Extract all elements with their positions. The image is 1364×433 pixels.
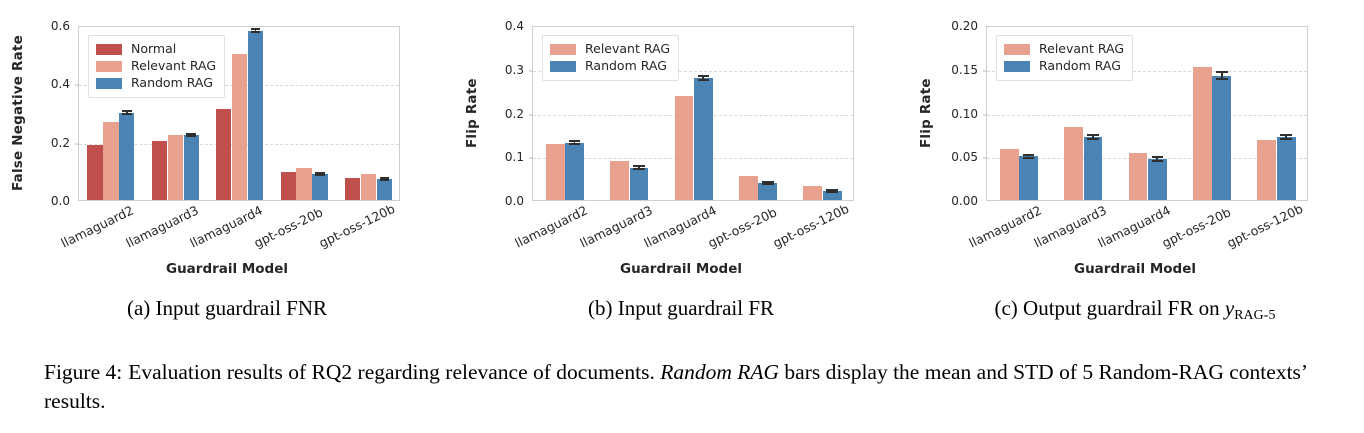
legend-label: Relevant RAG [131,60,216,73]
subcaption-subscript: RAG-5 [1234,307,1275,322]
error-bar-cap [380,177,390,179]
bar-llamaguard2-relevant-rag [103,122,118,200]
panel-c-legend[interactable]: Relevant RAGRandom RAG [996,35,1133,81]
error-bar-cap [380,179,390,181]
panel-a-y-tick-label: 0.6 [51,19,70,33]
bar-llamaguard3-relevant-rag [168,135,183,200]
bar-llamaguard4-relevant-rag [232,54,247,200]
error-bar-cap [698,75,710,77]
error-bar-cap [1280,134,1292,136]
error-bar-cap [1216,71,1228,73]
error-bar-cap [315,172,325,174]
error-bar-cap [1023,157,1035,159]
legend-item-relevant-rag[interactable]: Relevant RAG [550,41,670,58]
panel-a-subcaption: (a) Input guardrail FNR [0,296,454,321]
panel-c-x-ticks: llamaguard2llamaguard3llamaguard4gpt-oss… [908,205,1362,265]
legend-swatch-icon [550,44,576,55]
panel-b-y-tick-label: 0.4 [505,19,524,33]
panel-b-legend[interactable]: Relevant RAGRandom RAG [542,35,679,81]
error-bar-cap [633,168,645,170]
bar-llamaguard2-relevant-rag [1000,149,1019,200]
legend-swatch-icon [550,61,576,72]
bar-gpt-oss-20b-random-rag [758,183,777,200]
bar-llamaguard2-relevant-rag [546,144,565,200]
panel-c-y-tick-label: 0.05 [951,150,978,164]
panel-b-axes: Relevant RAGRandom RAG [532,26,854,201]
figure-caption-label: Figure 4: [44,360,122,384]
panel-c-y-tick-label: 0.10 [951,107,978,121]
legend-swatch-icon [96,61,122,72]
panel-c-x-axis-label: Guardrail Model [908,261,1362,277]
panel-a-x-ticks: llamaguard2llamaguard3llamaguard4gpt-oss… [0,205,454,265]
bar-llamaguard3-normal [152,141,167,201]
error-bar-cap [122,110,132,112]
figure-caption-text-1: Evaluation results of RQ2 regarding rele… [128,360,655,384]
bar-gpt-oss-120b-relevant-rag [803,186,822,200]
error-bar-cap [1087,134,1099,136]
x-tick-label-llamaguard2: llamaguard2 [513,209,577,251]
bar-gpt-oss-20b-random-rag [312,174,327,200]
panel-b-x-ticks: llamaguard2llamaguard3llamaguard4gpt-oss… [454,205,908,265]
figure-4: False Negative Rate0.00.20.40.6NormalRel… [0,0,1364,433]
legend-item-relevant-rag[interactable]: Relevant RAG [96,58,216,75]
legend-label: Random RAG [1039,60,1121,73]
panel-a-y-tick-label: 0.2 [51,136,70,150]
bar-llamaguard2-random-rag [119,113,134,201]
error-bar-cap [1280,138,1292,140]
error-bar-cap [762,183,774,185]
error-bar-cap [569,143,581,145]
panel-a-y-ticks: 0.00.20.40.6 [0,26,70,201]
bar-llamaguard4-random-rag [1148,159,1167,200]
bar-gpt-oss-20b-relevant-rag [739,176,758,200]
legend-swatch-icon [1004,44,1030,55]
bar-llamaguard3-random-rag [1084,137,1103,200]
error-bar-cap [826,189,838,191]
legend-label: Relevant RAG [585,43,670,56]
legend-label: Normal [131,43,176,56]
panel-c-y-ticks: 0.000.050.100.150.20 [908,26,978,201]
error-bar-cap [1023,154,1035,156]
legend-swatch-icon [96,78,122,89]
bar-gpt-oss-20b-normal [281,172,296,200]
panel-b-y-tick-label: 0.1 [505,150,524,164]
bar-llamaguard2-random-rag [565,143,584,200]
error-bar-cap [826,191,838,193]
panel-a: False Negative Rate0.00.20.40.6NormalRel… [0,8,454,338]
panel-b-y-tick-label: 0.2 [505,107,524,121]
legend-swatch-icon [1004,61,1030,72]
bar-llamaguard3-relevant-rag [1064,127,1083,200]
bar-llamaguard2-random-rag [1019,156,1038,200]
bar-llamaguard4-relevant-rag [1129,153,1148,200]
bar-gpt-oss-120b-relevant-rag [1257,140,1276,200]
error-bar-cap [1216,78,1228,80]
legend-item-random-rag[interactable]: Random RAG [1004,58,1124,75]
panel-a-y-tick-label: 0.4 [51,77,70,91]
panel-a-x-axis-label: Guardrail Model [0,261,454,277]
subcaption-prefix: (c) Output guardrail FR on [994,296,1219,320]
bar-gpt-oss-20b-random-rag [1212,76,1231,200]
bar-llamaguard4-normal [216,109,231,200]
panel-b-subcaption: (b) Input guardrail FR [454,296,908,321]
error-bar-cap [633,165,645,167]
bar-llamaguard2-normal [87,145,102,200]
legend-item-random-rag[interactable]: Random RAG [550,58,670,75]
error-bar-cap [1152,156,1164,158]
error-bar-cap [315,174,325,176]
x-tick-label-gpt-oss-120b: gpt-oss-120b [770,209,834,251]
bar-gpt-oss-20b-relevant-rag [296,168,311,200]
panel-b-y-ticks: 0.00.10.20.30.4 [454,26,524,201]
figure-caption: Figure 4:Evaluation results of RQ2 regar… [44,358,1322,416]
panel-c-y-tick-label: 0.20 [951,19,978,33]
panel-b: Flip Rate0.00.10.20.30.4Relevant RAGRand… [454,8,908,338]
panel-c: Flip Rate0.000.050.100.150.20Relevant RA… [908,8,1362,338]
bar-gpt-oss-20b-relevant-rag [1193,67,1212,200]
bar-gpt-oss-120b-normal [345,178,360,200]
bar-llamaguard4-relevant-rag [675,96,694,200]
legend-swatch-icon [96,44,122,55]
figure-caption-italic: Random RAG [660,360,779,384]
legend-label: Relevant RAG [1039,43,1124,56]
x-tick-label-gpt-oss-120b: gpt-oss-120b [316,209,380,251]
subcaption-variable: y [1225,296,1234,320]
bar-llamaguard3-random-rag [630,168,649,200]
error-bar-cap [251,28,261,30]
bar-gpt-oss-120b-random-rag [377,179,392,200]
panel-c-y-tick-label: 0.15 [951,63,978,77]
panel-b-x-axis-label: Guardrail Model [454,261,908,277]
legend-label: Random RAG [585,60,667,73]
error-bar-cap [122,113,132,115]
bar-gpt-oss-120b-relevant-rag [361,174,376,200]
figure-panels: False Negative Rate0.00.20.40.6NormalRel… [0,8,1364,338]
panel-b-plot: Flip Rate0.00.10.20.30.4Relevant RAGRand… [454,8,908,298]
x-tick-label-gpt-oss-120b: gpt-oss-120b [1224,209,1288,251]
panel-a-legend[interactable]: NormalRelevant RAGRandom RAG [88,35,225,98]
bar-llamaguard3-random-rag [184,135,199,200]
error-bar-cap [186,133,196,135]
legend-item-normal[interactable]: Normal [96,41,216,58]
legend-item-random-rag[interactable]: Random RAG [96,75,216,92]
bar-llamaguard3-relevant-rag [610,161,629,200]
error-bar-cap [1087,138,1099,140]
panel-c-axes: Relevant RAGRandom RAG [986,26,1308,201]
x-tick-label-llamaguard2: llamaguard2 [967,209,1031,251]
bar-llamaguard4-random-rag [694,78,713,200]
panel-a-plot: False Negative Rate0.00.20.40.6NormalRel… [0,8,454,298]
legend-label: Random RAG [131,77,213,90]
error-bar-cap [569,140,581,142]
panel-c-plot: Flip Rate0.000.050.100.150.20Relevant RA… [908,8,1362,298]
error-bar-cap [762,181,774,183]
panel-b-y-tick-label: 0.3 [505,63,524,77]
error-bar-cap [186,135,196,137]
panel-c-subcaption: (c) Output guardrail FR on yRAG-5 [908,296,1362,323]
panel-a-axes: NormalRelevant RAGRandom RAG [78,26,400,201]
error-bar-cap [1152,160,1164,162]
x-tick-label-llamaguard2: llamaguard2 [59,209,123,251]
error-bar-cap [698,79,710,81]
error-bar-cap [251,31,261,33]
bar-gpt-oss-120b-random-rag [1277,137,1296,200]
legend-item-relevant-rag[interactable]: Relevant RAG [1004,41,1124,58]
bar-llamaguard4-random-rag [248,31,263,200]
